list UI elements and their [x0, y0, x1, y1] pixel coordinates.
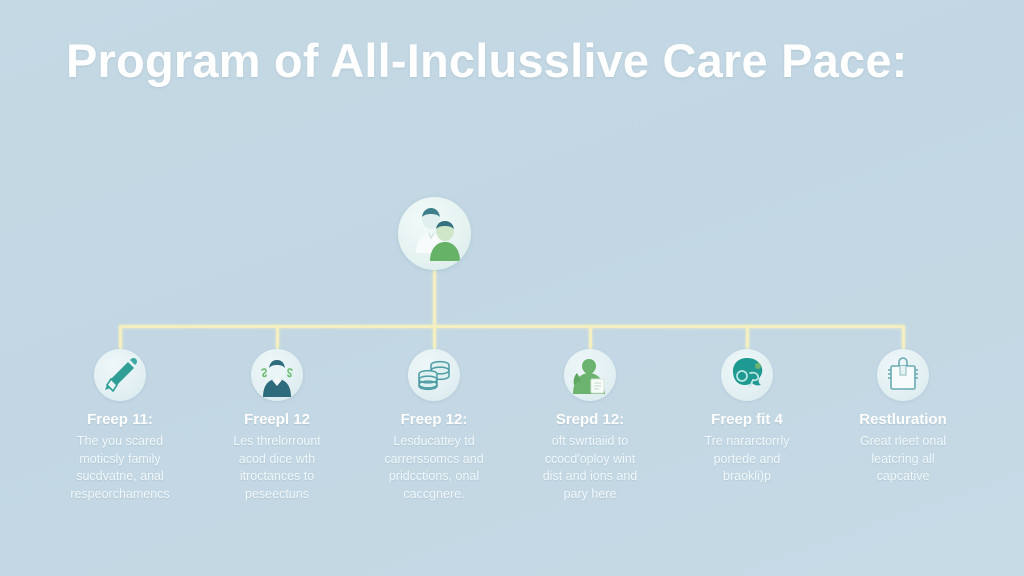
drop-line-1 — [119, 325, 122, 349]
person-money-icon — [251, 349, 303, 401]
drop-line-3 — [433, 325, 436, 349]
node-5-body-line-2: portede and — [673, 451, 821, 469]
node-3-body-line-1: Lesducattey td — [360, 433, 508, 451]
node-6-body-line-2: leatcring all — [829, 451, 977, 469]
node-3[interactable]: Freep 12: Lesducattey td carrerssomcs an… — [354, 349, 514, 503]
node-1-body: The you scared moticsly family sucdvatne… — [40, 433, 200, 503]
two-people-care-icon — [398, 197, 471, 270]
node-4[interactable]: Srepd 12: oft swrtiaiid to ccocd'oploy w… — [510, 349, 670, 503]
node-3-body-line-4: caccgnere. — [360, 486, 508, 504]
node-2-icon-circle — [251, 349, 303, 401]
node-2[interactable]: Freepl 12 Les threlorrount acod dice wth… — [197, 349, 357, 503]
root-node[interactable] — [398, 197, 471, 270]
node-4-body-line-3: dist and ions and — [516, 468, 664, 486]
node-2-heading: Freepl 12 — [197, 411, 357, 429]
pen-icon — [94, 349, 146, 401]
node-1-body-line-3: sucdvatne, anal — [46, 468, 194, 486]
node-2-body-line-1: Les threlorrount — [203, 433, 351, 451]
node-4-body: oft swrtiaiid to ccocd'oploy wint dist a… — [510, 433, 670, 503]
drop-line-2 — [276, 325, 279, 349]
node-2-body-line-3: itroctances to — [203, 468, 351, 486]
speech-blob-icon — [721, 349, 773, 401]
node-2-body: Les threlorrount acod dice wth itroctanc… — [197, 433, 357, 503]
drop-line-4 — [589, 325, 592, 349]
node-1-body-line-2: moticsly family — [46, 451, 194, 469]
node-3-body: Lesducattey td carrerssomcs and pridccti… — [354, 433, 514, 503]
coin-stack-icon — [408, 349, 460, 401]
node-3-body-line-2: carrerssomcs and — [360, 451, 508, 469]
node-6[interactable]: Restluration Great rleet onal leatcring … — [823, 349, 983, 486]
node-5-body: Tre nararctorrly portede and braokli)p — [667, 433, 827, 486]
node-2-body-line-2: acod dice wth — [203, 451, 351, 469]
node-4-body-line-1: oft swrtiaiid to — [516, 433, 664, 451]
node-6-body: Great rleet onal leatcring all capcative — [823, 433, 983, 486]
node-3-body-line-3: pridcctions, onal — [360, 468, 508, 486]
node-6-body-line-1: Great rleet onal — [829, 433, 977, 451]
node-5[interactable]: Freep fit 4 Tre nararctorrly portede and… — [667, 349, 827, 486]
node-5-body-line-1: Tre nararctorrly — [673, 433, 821, 451]
node-4-body-line-2: ccocd'oploy wint — [516, 451, 664, 469]
node-3-heading: Freep 12: — [354, 411, 514, 429]
drop-line-5 — [746, 325, 749, 349]
shopping-bag-icon — [877, 349, 929, 401]
node-4-icon-circle — [564, 349, 616, 401]
node-3-icon-circle — [408, 349, 460, 401]
node-1[interactable]: Freep 11: The you scared moticsly family… — [40, 349, 200, 503]
node-1-body-line-1: The you scared — [46, 433, 194, 451]
drop-line-6 — [902, 325, 905, 349]
node-5-icon-circle — [721, 349, 773, 401]
node-4-body-line-4: pary here — [516, 486, 664, 504]
node-5-body-line-3: braokli)p — [673, 468, 821, 486]
infographic-canvas: Program of All-Inclusslive Care Pace: — [0, 0, 1024, 576]
node-5-heading: Freep fit 4 — [667, 411, 827, 429]
node-2-body-line-4: peseectuns — [203, 486, 351, 504]
horizontal-bus-line — [120, 325, 904, 328]
node-1-icon-circle — [94, 349, 146, 401]
node-1-body-line-4: respeorchamencs — [46, 486, 194, 504]
node-4-heading: Srepd 12: — [510, 411, 670, 429]
node-6-icon-circle — [877, 349, 929, 401]
root-stem-line — [433, 270, 436, 327]
node-1-heading: Freep 11: — [40, 411, 200, 429]
person-clipboard-icon — [564, 349, 616, 401]
node-6-heading: Restluration — [823, 411, 983, 429]
node-6-body-line-3: capcative — [829, 468, 977, 486]
